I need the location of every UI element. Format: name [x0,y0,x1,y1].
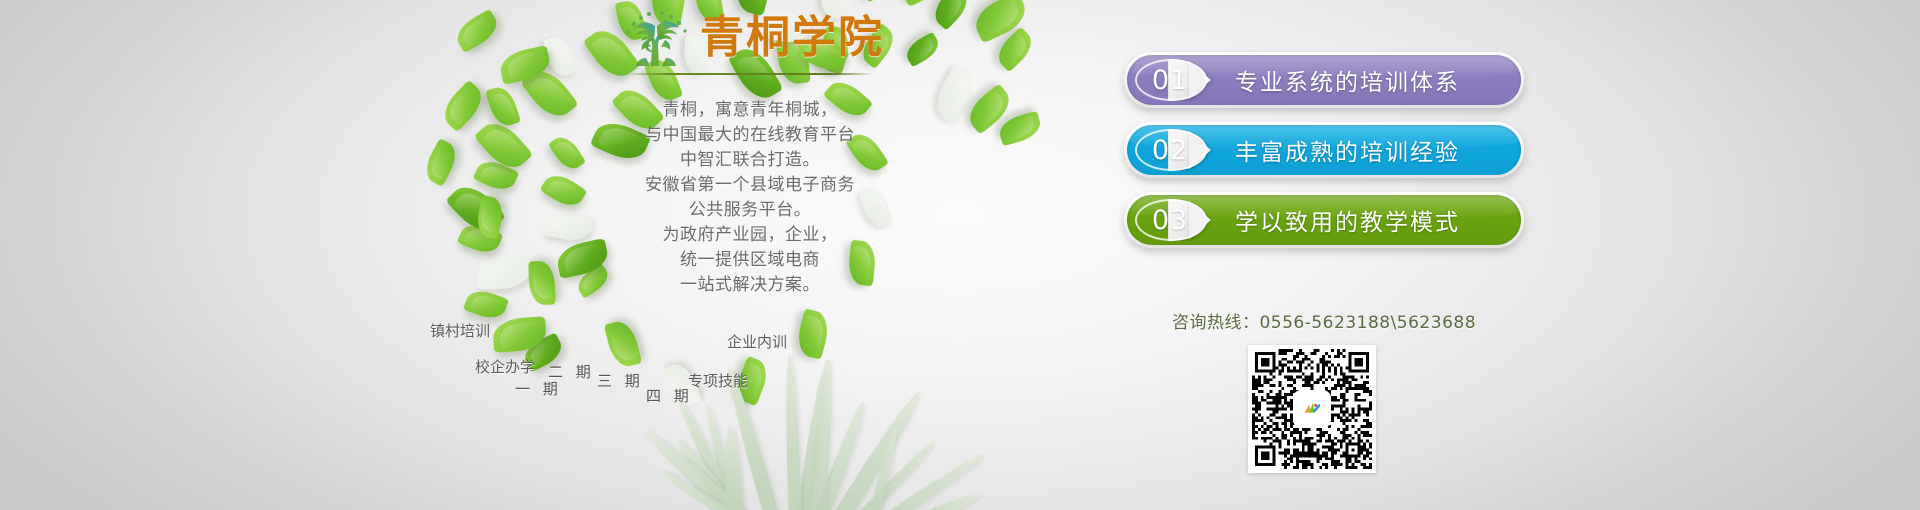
tree-icon [616,8,694,68]
intro-line: 与中国最大的在线教育平台 [595,123,905,148]
feature-number: 01 [1127,65,1213,96]
intro-line: 中智汇联合打造。 [595,148,905,173]
promo-banner: 镇村培训校企办学一 期二 期三 期四 期专项技能企业内训 [0,0,1920,510]
stage-label: 镇村培训 [430,320,490,341]
leaf-icon [996,111,1043,147]
leaf-icon [902,32,943,68]
grass-fan-decoration [600,340,980,510]
intro-line: 为政府产业园，企业， [595,223,905,248]
grass-blade [783,354,803,510]
feature-bar-body: 03学以致用的教学模式 [1127,195,1521,245]
feature-number: 03 [1127,205,1213,236]
feature-label: 学以致用的教学模式 [1213,203,1521,237]
leaf-icon [477,256,531,290]
leaf-icon [437,80,489,133]
feature-number: 02 [1127,135,1213,166]
feature-bar-01[interactable]: 01专业系统的培训体系 [1124,52,1524,108]
feature-bar-body: 01专业系统的培训体系 [1127,55,1521,105]
brand-logo-block: 青桐学院 [600,8,900,75]
feature-bar-02[interactable]: 02丰富成熟的培训经验 [1124,122,1524,178]
intro-line: 一站式解决方案。 [595,273,905,298]
logo-divider [625,73,875,75]
feature-list: 01专业系统的培训体系02丰富成熟的培训经验03学以致用的教学模式 [1124,52,1524,262]
leaf-icon [928,0,974,31]
colorful-bird-logo [1295,392,1329,426]
feature-label: 丰富成熟的培训经验 [1213,133,1521,167]
stage-label: 校企办学 [475,356,535,377]
stage-label: 二 期 [548,361,595,382]
leaf-icon [420,138,462,187]
qr-code[interactable] [1248,345,1376,473]
leaf-icon [463,286,509,323]
intro-line: 安徽省第一个县域电子商务 [595,173,905,198]
leaf-icon [539,169,587,212]
leaf-icon [852,0,897,3]
leaf-icon [528,261,556,306]
intro-line: 青桐，寓意青年桐城， [595,98,905,123]
leaf-icon [544,208,594,244]
stage-label: 企业内训 [727,331,787,352]
intro-line: 统一提供区域电商 [595,248,905,273]
intro-paragraph: 青桐，寓意青年桐城，与中国最大的在线教育平台中智汇联合打造。安徽省第一个县域电子… [595,98,905,298]
stage-label: 三 期 [597,370,644,391]
brand-name: 青桐学院 [700,16,884,60]
feature-bar-body: 02丰富成熟的培训经验 [1127,125,1521,175]
leaf-icon [548,132,586,174]
stage-label: 四 期 [646,385,693,406]
leaf-icon [451,9,502,54]
intro-line: 公共服务平台。 [595,198,905,223]
stage-label: 专项技能 [688,370,748,391]
leaf-icon [485,84,521,130]
feature-label: 专业系统的培训体系 [1213,63,1521,97]
feature-bar-03[interactable]: 03学以致用的教学模式 [1124,192,1524,248]
hotline-text: 咨询热线：0556-5623188\5623688 [1124,308,1524,333]
